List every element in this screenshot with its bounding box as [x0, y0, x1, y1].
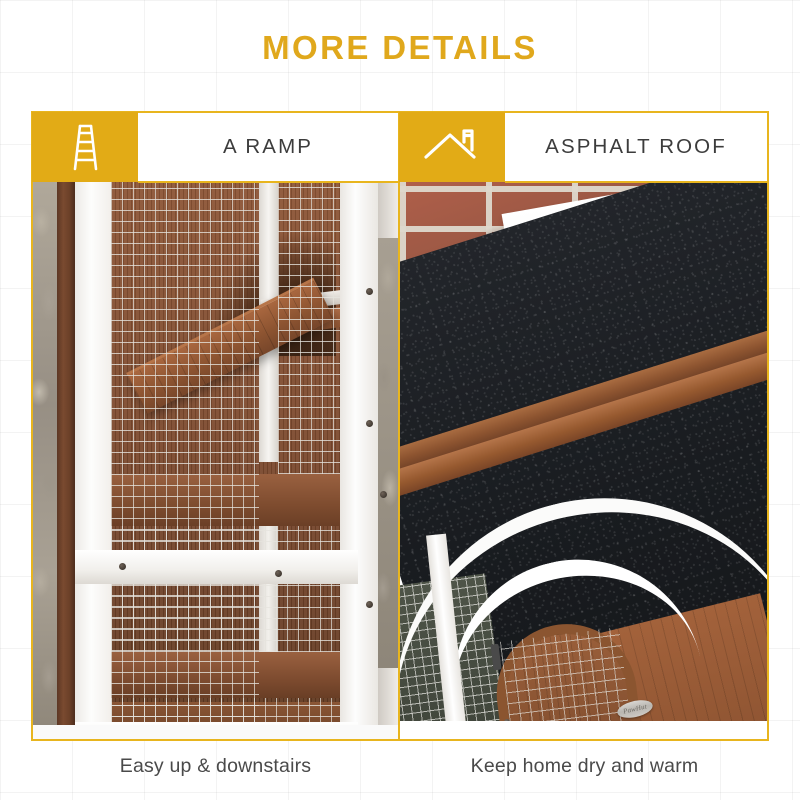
ramp-photo: [33, 182, 398, 739]
ladder-icon-box: [32, 112, 138, 182]
screw-icon: [275, 570, 282, 577]
stone-wall-left: [33, 182, 59, 739]
floor-level-upper: [111, 474, 340, 526]
ladder-icon: [63, 122, 107, 172]
white-frame-left: [75, 182, 111, 739]
screw-icon: [366, 601, 373, 608]
screw-icon: [119, 563, 126, 570]
roof-icon-box: [399, 112, 505, 182]
detail-panel-ramp: A RAMP: [31, 111, 400, 741]
roof-heading: ASPHALT ROOF: [505, 111, 769, 183]
photo-bottom-edge: [400, 721, 767, 739]
ramp-heading: A RAMP: [138, 111, 400, 183]
white-cross-rail-upper: [75, 550, 358, 584]
roof-icon: [423, 126, 481, 168]
screw-icon: [366, 420, 373, 427]
detail-panel-roof: PawHut ASPHALT ROOF: [400, 111, 769, 741]
roof-photo: PawHut: [400, 182, 767, 739]
floor-level-middle: [111, 652, 340, 698]
ramp-caption: Easy up & downstairs: [31, 742, 400, 778]
ramp-photo-scene: [33, 182, 398, 739]
page-title: MORE DETAILS: [0, 29, 800, 67]
roof-caption: Keep home dry and warm: [400, 742, 769, 778]
screw-icon: [366, 288, 373, 295]
photo-bottom-edge: [33, 725, 398, 739]
wood-post-left: [57, 182, 75, 739]
white-frame-right: [340, 182, 378, 739]
hutch-interior: [111, 182, 340, 739]
roof-panel-header: ASPHALT ROOF: [399, 112, 768, 182]
ramp-panel-header: A RAMP: [32, 112, 399, 182]
screw-icon: [380, 491, 387, 498]
stone-wall-right: [378, 238, 398, 668]
roof-photo-scene: PawHut: [400, 182, 767, 739]
